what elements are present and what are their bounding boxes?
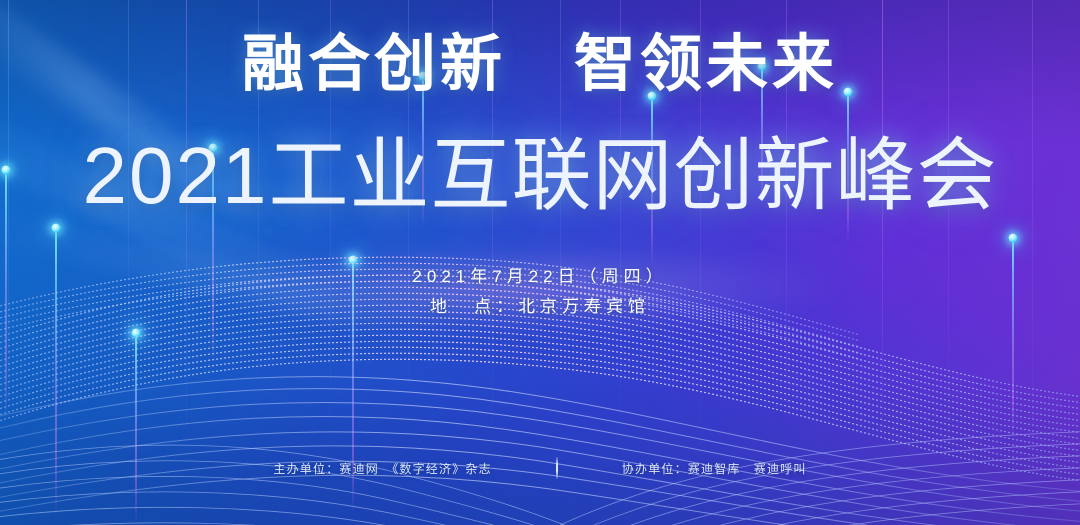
conference-poster: 融合创新智领未来 2021工业互联网创新峰会 2021年7月22日（周四） 地点…: [0, 0, 1080, 525]
page-title: 2021工业互联网创新峰会: [0, 136, 1080, 216]
event-details: 2021年7月22日（周四） 地点：北京万寿宾馆: [0, 262, 1080, 322]
title-main-text: 工业互联网创新峰会: [268, 131, 997, 220]
location-label-text: 地: [430, 297, 452, 316]
event-date: 2021年7月22日（周四）: [0, 262, 1080, 292]
organizer-text: 主办单位：赛迪网 《数字经济》杂志: [273, 460, 491, 477]
title-year-text: 2021: [83, 131, 269, 220]
poster-tagline: 融合创新智领未来: [0, 34, 1080, 96]
sponsor-divider: [556, 457, 558, 479]
location-value-text: 北京万寿宾馆: [518, 297, 650, 316]
location-label2-text: 点：: [474, 297, 518, 316]
tagline-left-text: 融合创新: [242, 31, 506, 99]
sponsor-bar: 主办单位：赛迪网 《数字经济》杂志 协办单位：赛迪智库 赛迪呼叫: [0, 457, 1080, 479]
tagline-right-text: 智领未来: [574, 31, 838, 99]
poster-content: 融合创新智领未来 2021工业互联网创新峰会 2021年7月22日（周四） 地点…: [0, 0, 1080, 525]
co-organizer-text: 协办单位：赛迪智库 赛迪呼叫: [622, 460, 807, 477]
event-location: 地点：北京万寿宾馆: [0, 292, 1080, 322]
